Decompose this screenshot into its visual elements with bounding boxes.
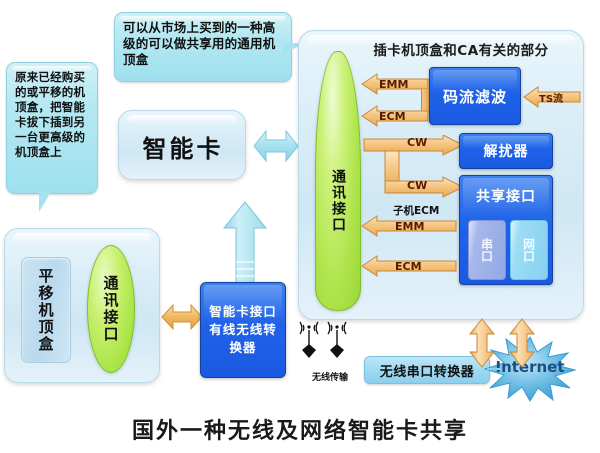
wireless-transmission-label: 无线传输: [295, 370, 365, 383]
converter-label: 智能卡接口有线无线转换器: [201, 303, 285, 357]
stb-comm-interface-label: 通讯接口: [328, 169, 348, 233]
legacy-stb-panel: 平移机顶盒 通讯接口: [4, 228, 160, 383]
stb-comm-interface: 通讯接口: [315, 51, 361, 311]
callout-left: 原来已经购买的或平移的机顶盒，把智能卡拔下插到另一台更高级的机顶盒上: [6, 62, 98, 194]
label-emm-top: EMM: [379, 78, 408, 91]
callout-top: 可以从市场上买到的一种高级的可以做共享用的通用机顶盒: [114, 12, 292, 82]
label-cw-lower: CW: [407, 179, 427, 192]
stream-filter-box: 码流滤波: [429, 67, 521, 125]
network-port-box: 网口: [510, 220, 548, 280]
share-interface-label: 共享接口: [460, 176, 552, 206]
arrow-serial-port-down: [468, 318, 496, 368]
panel-sheen: [13, 233, 151, 243]
smartcard-box: 智能卡: [118, 110, 246, 180]
label-ecm-bottom: ECM: [395, 260, 422, 273]
diagram-canvas: 可以从市场上买到的一种高级的可以做共享用的通用机顶盒 原来已经购买的或平移的机顶…: [0, 0, 600, 453]
callout-left-text: 原来已经购买的或平移的机顶盒，把智能卡拔下插到另一台更高级的机顶盒上: [7, 63, 97, 165]
label-emm-bottom: EMM: [395, 220, 424, 233]
connector-converter-internet: [487, 368, 501, 370]
wireless-serial-converter-label: 无线串口转换器: [380, 361, 475, 380]
arrow-smartcard-to-stb: [253, 125, 299, 167]
legacy-stb-inner-box: 平移机顶盒: [21, 257, 71, 363]
label-cw-upper: CW: [407, 136, 427, 149]
legacy-stb-comm-interface: 通讯接口: [87, 245, 135, 373]
descrambler-label: 解扰器: [484, 141, 529, 161]
arrow-up-converter-to-smartcard: [222, 200, 268, 286]
serial-port-label: 串口: [479, 238, 496, 262]
callout-left-tail: [39, 192, 61, 212]
share-interface-box: 共享接口 串口 网口: [459, 175, 553, 285]
legacy-comm-interface-label: 通讯接口: [101, 275, 122, 343]
legacy-stb-label: 平移机顶盒: [36, 268, 57, 353]
antenna-pair: [290, 318, 356, 366]
label-ts-stream: TS流: [539, 90, 563, 105]
arrow-network-port-down: [508, 318, 536, 368]
descrambler-box: 解扰器: [459, 133, 553, 169]
network-port-label: 网口: [521, 238, 538, 262]
label-ecm-top: ECM: [379, 110, 406, 123]
smartcard-converter-box: 智能卡接口有线无线转换器: [200, 282, 286, 378]
arrow-legacy-to-converter: [161, 300, 203, 334]
page-title: 国外一种无线及网络智能卡共享: [0, 413, 600, 445]
smartcard-label: 智能卡: [119, 111, 247, 181]
callout-top-text: 可以从市场上买到的一种高级的可以做共享用的通用机顶盒: [115, 13, 291, 73]
serial-port-box: 串口: [468, 220, 506, 280]
stb-ca-panel: 插卡机顶盒和CA有关的部分 通讯接口 EMM ECM 码流滤波: [298, 30, 584, 320]
stb-panel-header: 插卡机顶盒和CA有关的部分: [345, 39, 577, 59]
stream-filter-label: 码流滤波: [443, 86, 507, 107]
